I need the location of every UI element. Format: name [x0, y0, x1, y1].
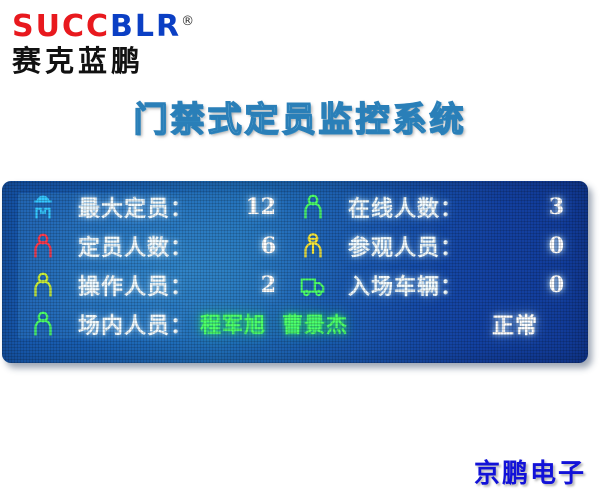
led-value: 2 — [212, 272, 276, 298]
person-hardhat-icon — [28, 192, 58, 222]
led-row: 定员人数： 6 参观人员： 0 — [2, 226, 588, 265]
company-logo: SUCCBLR® 赛克蓝鹏 — [12, 6, 262, 76]
list-item: 程军旭 — [200, 309, 266, 339]
led-cell-online-count: 在线人数： 3 — [290, 187, 580, 226]
person-operator-icon — [28, 270, 58, 300]
onsite-names-list: 程军旭 曹景杰 — [200, 304, 348, 343]
led-value: 3 — [502, 194, 564, 220]
led-value: 0 — [502, 272, 564, 298]
list-item: 曹景杰 — [282, 309, 348, 339]
logo-wordmark: SUCCBLR® — [12, 6, 262, 43]
status-badge: 正常 — [492, 304, 538, 343]
led-label: 入场车辆： — [348, 269, 463, 301]
registered-trademark-icon: ® — [181, 14, 194, 29]
truck-icon — [298, 270, 328, 300]
led-cell-quota-personnel: 定员人数： 6 — [2, 226, 290, 265]
logo-wordmark-blue: BLR — [110, 9, 181, 44]
led-label: 场内人员： — [78, 308, 193, 340]
led-display-panel: 最大定员： 12 在线人数： 3 — [2, 181, 588, 363]
led-value: 0 — [502, 233, 564, 259]
led-rows-container: 最大定员： 12 在线人数： 3 — [2, 187, 588, 357]
led-label: 参观人员： — [348, 230, 463, 262]
led-label: 操作人员： — [78, 269, 193, 301]
led-row: 操作人员： 2 入场车辆： 0 — [2, 265, 588, 304]
led-value: 12 — [212, 194, 276, 220]
logo-chinese-name: 赛克蓝鹏 — [12, 44, 262, 78]
led-cell-visitors: 参观人员： 0 — [290, 226, 580, 265]
footer-brand: 京鹏电子 — [474, 453, 586, 490]
person-quota-icon — [28, 231, 58, 261]
led-cell-max-quota: 最大定员： 12 — [2, 187, 290, 226]
led-label: 定员人数： — [78, 230, 193, 262]
led-label: 在线人数： — [348, 191, 463, 223]
led-cell-vehicles: 入场车辆： 0 — [290, 265, 580, 304]
led-value: 6 — [212, 233, 276, 259]
person-onsite-icon — [28, 309, 58, 339]
led-label: 最大定员： — [78, 191, 193, 223]
person-online-icon — [298, 192, 328, 222]
logo-wordmark-red: SUCC — [12, 9, 110, 44]
person-visitor-icon — [298, 231, 328, 261]
led-cell-operators: 操作人员： 2 — [2, 265, 290, 304]
led-row-onsite: 场内人员： 程军旭 曹景杰 正常 — [2, 304, 588, 343]
page-title: 门禁式定员监控系统 — [0, 92, 600, 141]
led-row: 最大定员： 12 在线人数： 3 — [2, 187, 588, 226]
